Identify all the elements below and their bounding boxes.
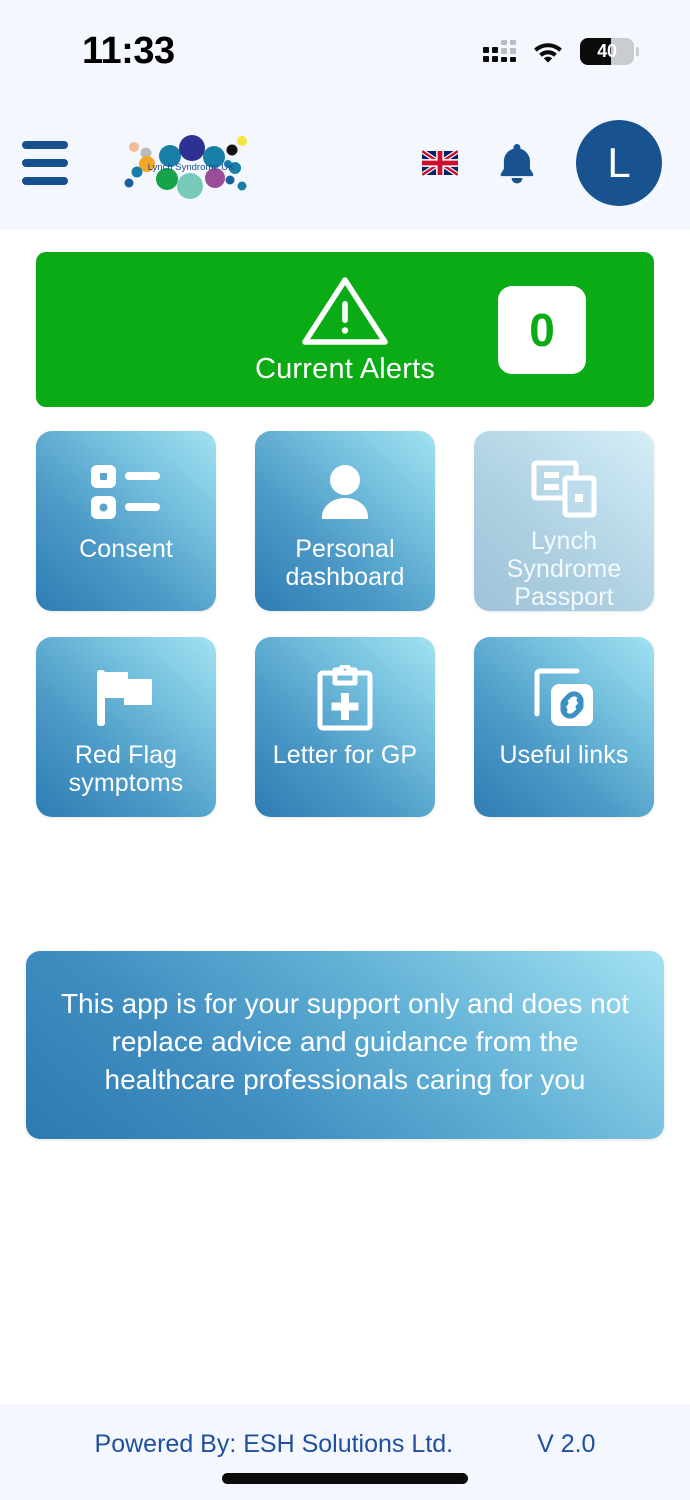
powered-by-label: Powered By: ESH Solutions Ltd. [95, 1430, 454, 1459]
tile-consent[interactable]: Consent [36, 431, 216, 611]
battery-icon: 40 [580, 38, 634, 65]
status-icons: 40 [483, 38, 634, 65]
link-copy-icon [531, 659, 597, 737]
disclaimer-text: This app is for your support only and do… [60, 985, 630, 1099]
header-actions: L [422, 120, 662, 206]
checklist-icon [89, 453, 163, 531]
warning-triangle-icon [299, 273, 391, 349]
lynch-syndrome-uk-logo: Lynch Syndrome UK [116, 120, 266, 206]
tile-label: Useful links [493, 741, 634, 769]
footer: Powered By: ESH Solutions Ltd. V 2.0 [0, 1404, 690, 1500]
passport-cards-icon [531, 453, 597, 525]
person-icon [314, 453, 376, 531]
app-screen: 11:33 40 [0, 0, 690, 1500]
cellular-signal-icon [483, 40, 516, 62]
tile-personal-dashboard[interactable]: Personal dashboard [255, 431, 435, 611]
tile-letter-for-gp[interactable]: Letter for GP [255, 637, 435, 817]
app-header: Lynch Syndrome UK L [0, 96, 690, 230]
tile-label: Personal dashboard [255, 535, 435, 591]
app-version-label: V 2.0 [537, 1430, 595, 1459]
disclaimer-banner: This app is for your support only and do… [26, 951, 664, 1139]
status-time: 11:33 [82, 30, 175, 73]
main-content: Current Alerts 0 Consent [0, 230, 690, 1404]
tile-red-flag-symptoms[interactable]: Red Flag symptoms [36, 637, 216, 817]
alerts-count-badge: 0 [498, 286, 586, 374]
flag-icon [94, 659, 158, 737]
clipboard-medical-icon [317, 659, 373, 737]
tile-label: Red Flag symptoms [36, 741, 216, 797]
home-indicator[interactable] [222, 1473, 468, 1484]
logo-text: Lynch Syndrome UK [148, 162, 235, 173]
tile-label: Letter for GP [267, 741, 423, 769]
tile-label: Consent [73, 535, 179, 563]
wifi-icon [532, 39, 564, 63]
tile-useful-links[interactable]: Useful links [474, 637, 654, 817]
tile-lynch-syndrome-passport[interactable]: Lynch Syndrome Passport [474, 431, 654, 611]
current-alerts-label: Current Alerts [255, 353, 435, 386]
tile-label: Lynch Syndrome Passport [474, 527, 654, 611]
uk-flag-icon[interactable] [422, 150, 458, 176]
status-bar: 11:33 40 [0, 0, 690, 96]
feature-tile-grid: Consent Personal dashboard [36, 431, 654, 817]
bell-icon[interactable] [498, 142, 536, 184]
current-alerts-banner[interactable]: Current Alerts 0 [36, 252, 654, 407]
alerts-left: Current Alerts [255, 273, 435, 386]
avatar-initial: L [607, 139, 630, 187]
battery-level: 40 [580, 38, 634, 65]
hamburger-menu-icon[interactable] [22, 141, 68, 185]
avatar[interactable]: L [576, 120, 662, 206]
